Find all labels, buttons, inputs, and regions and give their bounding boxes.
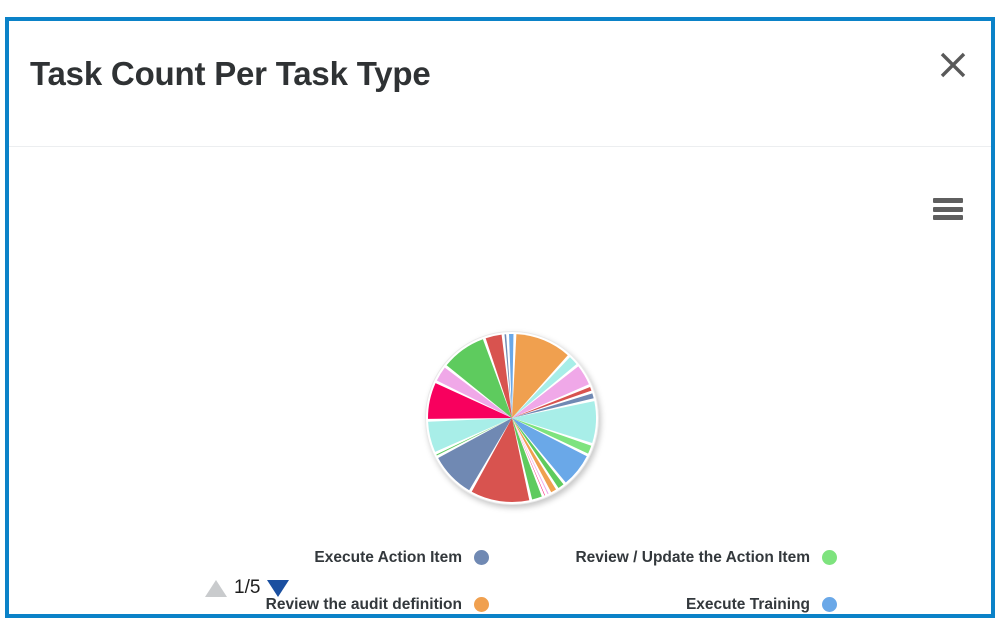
legend-item-label: Execute Training — [686, 596, 810, 614]
legend-item[interactable]: Execute Action Item — [9, 534, 489, 581]
chart-modal: Task Count Per Task Type Execute — [5, 17, 995, 618]
legend-pager: 1/5 — [205, 576, 289, 600]
triangle-down-icon[interactable] — [267, 580, 289, 597]
page-title: Task Count Per Task Type — [30, 55, 430, 93]
chart-area — [9, 147, 991, 387]
legend-item-label: Execute Action Item — [314, 549, 462, 567]
legend-item-label: Review / Update the Action Item — [575, 549, 810, 567]
legend-grid: Execute Action ItemReview / Update the A… — [9, 534, 991, 614]
legend-color-dot — [474, 597, 489, 612]
legend-color-dot — [822, 597, 837, 612]
triangle-up-icon[interactable] — [205, 580, 227, 597]
chart-legend: Execute Action ItemReview / Update the A… — [9, 534, 991, 614]
legend-color-dot — [822, 550, 837, 565]
pager-label: 1/5 — [234, 577, 260, 599]
legend-item[interactable]: Review / Update the Action Item — [517, 534, 837, 581]
pie-chart[interactable] — [424, 330, 600, 506]
legend-item[interactable]: Execute Training — [517, 581, 837, 614]
modal-header: Task Count Per Task Type — [9, 21, 991, 147]
screen-root: Task Count Per Task Type Execute — [0, 0, 1000, 626]
pie-chart-svg[interactable] — [424, 330, 600, 506]
modal-body: Execute Action ItemReview / Update the A… — [9, 147, 991, 614]
legend-color-dot — [474, 550, 489, 565]
legend-item-label: Review the audit definition — [266, 596, 462, 614]
close-icon[interactable] — [935, 47, 971, 83]
close-glyph — [935, 47, 971, 83]
